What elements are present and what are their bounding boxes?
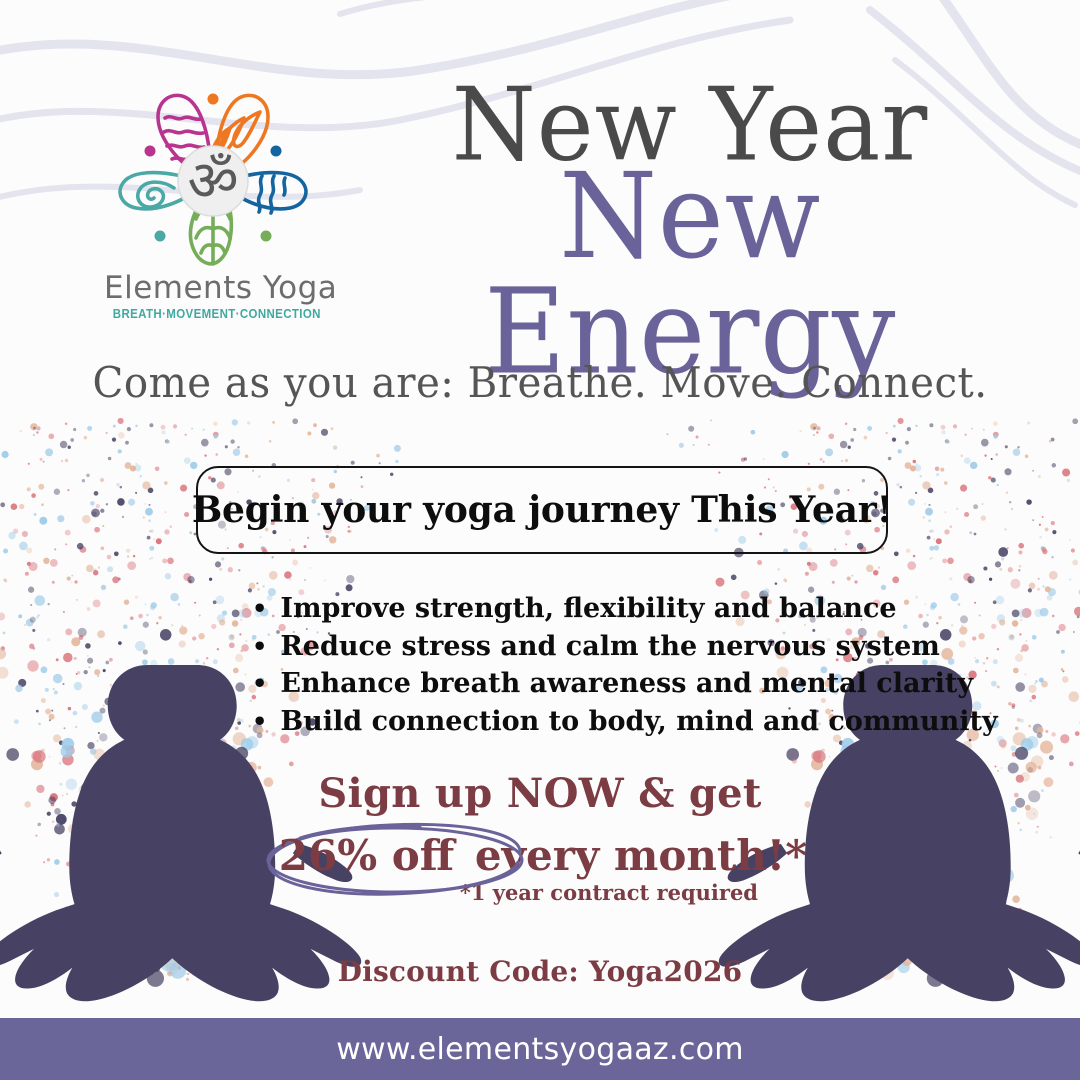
offer-note-wrap: *1 year contract required (180, 880, 900, 905)
offer-block: Sign up NOW & get 26% off every month!* … (180, 770, 900, 905)
list-item: • Build connection to body, mind and com… (252, 703, 872, 741)
bullet-icon: • (252, 635, 267, 659)
offer-footnote: *1 year contract required (460, 880, 772, 905)
om-symbol-icon: ॐ (187, 149, 238, 214)
list-item: • Reduce stress and calm the nervous sys… (252, 628, 872, 666)
logo-wordmark: Elements Yoga (104, 270, 324, 306)
poster-canvas: ॐ Elements Yoga BREATH·MOVEMENT·CONNECTI… (0, 0, 1080, 1080)
cta-banner: Begin your yoga journey This Year! (196, 466, 888, 554)
bullet-icon: • (252, 597, 267, 621)
brand-logo: ॐ Elements Yoga BREATH·MOVEMENT·CONNECTI… (104, 88, 324, 333)
headline-line-2: New Energy (340, 161, 1040, 391)
discount-percent: 26% off (273, 831, 460, 880)
list-item-label: Build connection to body, mind and commu… (280, 703, 997, 741)
list-item-label: Improve strength, flexibility and balanc… (280, 590, 896, 628)
list-item-label: Reduce stress and calm the nervous syste… (280, 628, 940, 666)
website-url[interactable]: www.elementsyogaaz.com (336, 1032, 744, 1067)
elements-flower-icon: ॐ (114, 88, 314, 273)
list-item-label: Enhance breath awareness and mental clar… (280, 665, 973, 703)
page-title: New Year New Energy (340, 78, 1040, 386)
offer-suffix: every month!* (475, 831, 807, 880)
cta-banner-text: Begin your yoga journey This Year! (192, 489, 892, 531)
list-item: • Improve strength, flexibility and bala… (252, 590, 872, 628)
bullet-icon: • (252, 710, 267, 734)
bullet-icon: • (252, 672, 267, 696)
discount-code: Discount Code: Yoga2026 (0, 955, 1080, 988)
list-item: • Enhance breath awareness and mental cl… (252, 665, 872, 703)
offer-discount-line: 26% off every month!* (180, 831, 900, 880)
brand-tagline: Come as you are: Breathe. Move. Connect. (22, 358, 1059, 407)
logo-tagline: BREATH·MOVEMENT·CONNECTION (113, 307, 315, 321)
footer-bar: www.elementsyogaaz.com (0, 1018, 1080, 1080)
benefits-list: • Improve strength, flexibility and bala… (252, 590, 872, 740)
offer-headline: Sign up NOW & get (180, 770, 900, 817)
